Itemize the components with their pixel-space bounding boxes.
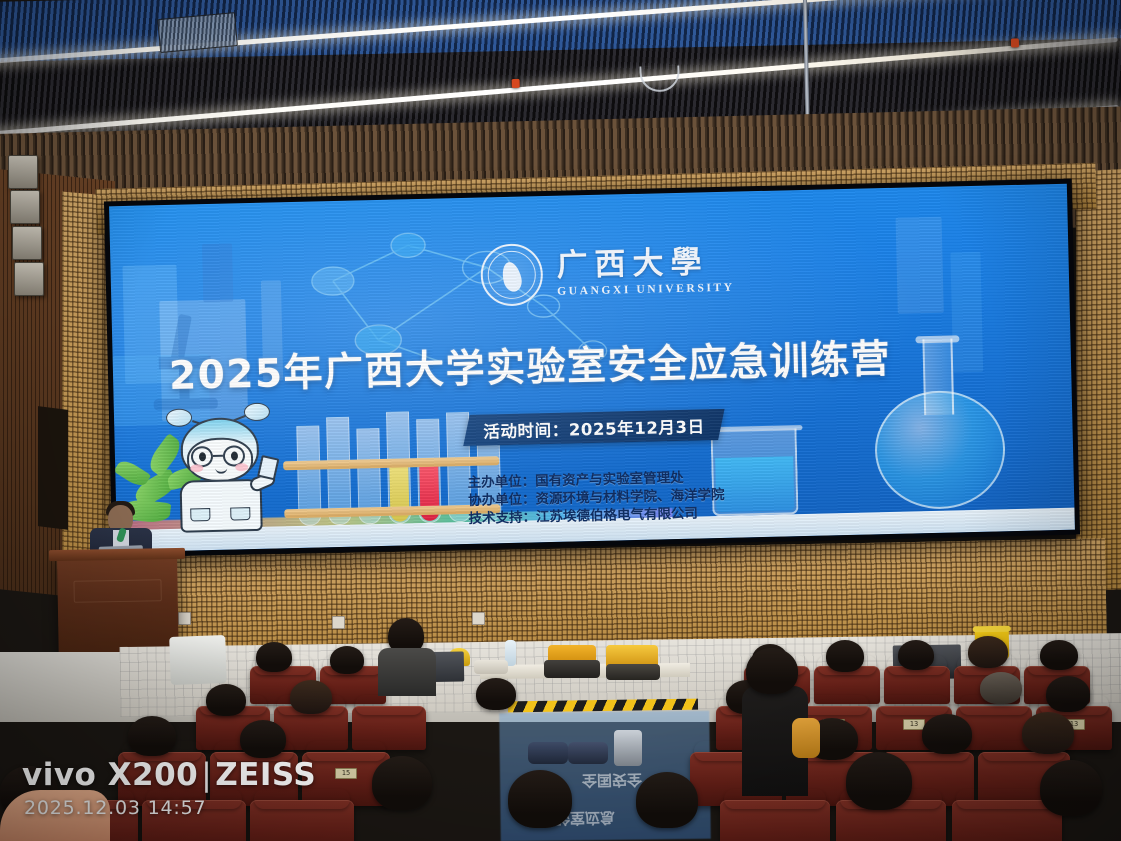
- ceiling-sprinkler: [512, 79, 520, 88]
- organizer-block: 主办单位：国有资产与实验室管理处 协办单位：资源环境与材料学院、海洋学院 技术支…: [467, 469, 725, 529]
- wall-outlet[interactable]: [332, 616, 345, 629]
- podium-emblem: [73, 579, 161, 603]
- attendee-head: [290, 680, 332, 714]
- auditorium-seat[interactable]: [250, 800, 354, 841]
- round-flask-neck: [922, 339, 954, 416]
- attendee-head: [1040, 760, 1102, 816]
- university-logo: 广西大學 GUANGXI UNIVERSITY: [480, 229, 772, 316]
- attendee-head: [968, 636, 1008, 668]
- mascot-pocket: [190, 508, 210, 521]
- mascot-clipboard: [257, 455, 279, 480]
- attendee-head: [206, 684, 246, 716]
- event-date-text: 活动时间：2025年12月3日: [483, 413, 705, 442]
- mascot-pocket: [230, 507, 250, 520]
- seat-cushion: [799, 695, 869, 715]
- watermark-lens-text: ZEISS: [215, 757, 316, 793]
- university-seal-icon: [480, 243, 543, 306]
- wall-window-recess: [38, 406, 68, 530]
- attendee-head: [240, 720, 286, 758]
- mascot-antenna: [244, 403, 270, 422]
- attendee-head: [746, 648, 798, 694]
- presentation-slide: 广西大學 GUANGXI UNIVERSITY 2025年广西大学实验室安全应急…: [109, 184, 1075, 552]
- reflection-text: 全国安全: [582, 769, 642, 791]
- loudspeaker: [14, 262, 44, 296]
- loudspeaker: [10, 190, 40, 224]
- equipment-cylinder: [614, 730, 642, 766]
- ceiling-vent: [157, 12, 238, 53]
- event-date-banner: 活动时间：2025年12月3日: [463, 409, 725, 446]
- attendee-head: [636, 772, 698, 828]
- boot-pair: [568, 742, 608, 764]
- safety-gear-dark: [606, 664, 660, 680]
- decor-block: [896, 217, 944, 314]
- ceiling-rig: [639, 65, 680, 92]
- round-flask-lip: [915, 335, 959, 343]
- loudspeaker: [8, 155, 38, 189]
- university-name-en: GUANGXI UNIVERSITY: [557, 282, 735, 298]
- camera-watermark-brand: vivo X200|ZEISS: [22, 757, 316, 793]
- boot-pair: [528, 742, 568, 764]
- attendee-head: [256, 642, 292, 672]
- attendee-head: [128, 716, 176, 756]
- mascot-glasses-bridge: [213, 455, 223, 457]
- camera-watermark-datetime: 2025.12.03 14:57: [24, 797, 206, 819]
- av-equipment: [169, 635, 227, 685]
- attendee-head: [846, 752, 912, 810]
- ceiling-sprinkler: [1011, 38, 1019, 47]
- university-name-cn: 广西大學: [556, 246, 734, 281]
- mascot-character: [162, 403, 277, 538]
- decor-block: [202, 243, 233, 302]
- attendee-head: [826, 640, 864, 672]
- mascot-eye: [199, 452, 206, 461]
- attendee-head: [508, 770, 572, 828]
- mascot-eye: [231, 451, 238, 460]
- attendee-head: [1022, 712, 1074, 754]
- mascot-antenna: [166, 408, 192, 427]
- wall-outlet[interactable]: [472, 612, 485, 625]
- attendee-head: [980, 672, 1022, 704]
- loudspeaker: [12, 226, 42, 260]
- auditorium-seat[interactable]: [720, 800, 830, 841]
- seat-cushion: [355, 695, 423, 715]
- podium-top-surface: [49, 548, 185, 561]
- attendee-torso: [378, 648, 436, 696]
- wall-outlet[interactable]: [178, 612, 191, 625]
- attendee-sleeve: [792, 718, 820, 758]
- seat-cushion: [306, 741, 387, 761]
- seat-cushion: [879, 695, 949, 715]
- watermark-brand-text: vivo X200: [22, 757, 198, 793]
- attendee-head: [330, 646, 364, 674]
- attendee-head: [476, 678, 516, 710]
- equipment-box: [474, 660, 508, 674]
- wall-right-acoustic-panel: [1076, 168, 1121, 591]
- seat-number-plate: 15: [335, 768, 357, 779]
- attendee-head: [1040, 640, 1078, 670]
- watermark-separator: |: [201, 757, 212, 793]
- attendee-head: [1046, 676, 1090, 712]
- led-screen-bezel: 广西大學 GUANGXI UNIVERSITY 2025年广西大学实验室安全应急…: [104, 179, 1080, 558]
- photograph-scene: 广西大學 GUANGXI UNIVERSITY 2025年广西大学实验室安全应急…: [0, 0, 1121, 841]
- attendee-head: [372, 756, 432, 810]
- attendee-head: [922, 714, 972, 754]
- safety-gear-dark: [544, 660, 600, 678]
- attendee-head: [898, 640, 934, 670]
